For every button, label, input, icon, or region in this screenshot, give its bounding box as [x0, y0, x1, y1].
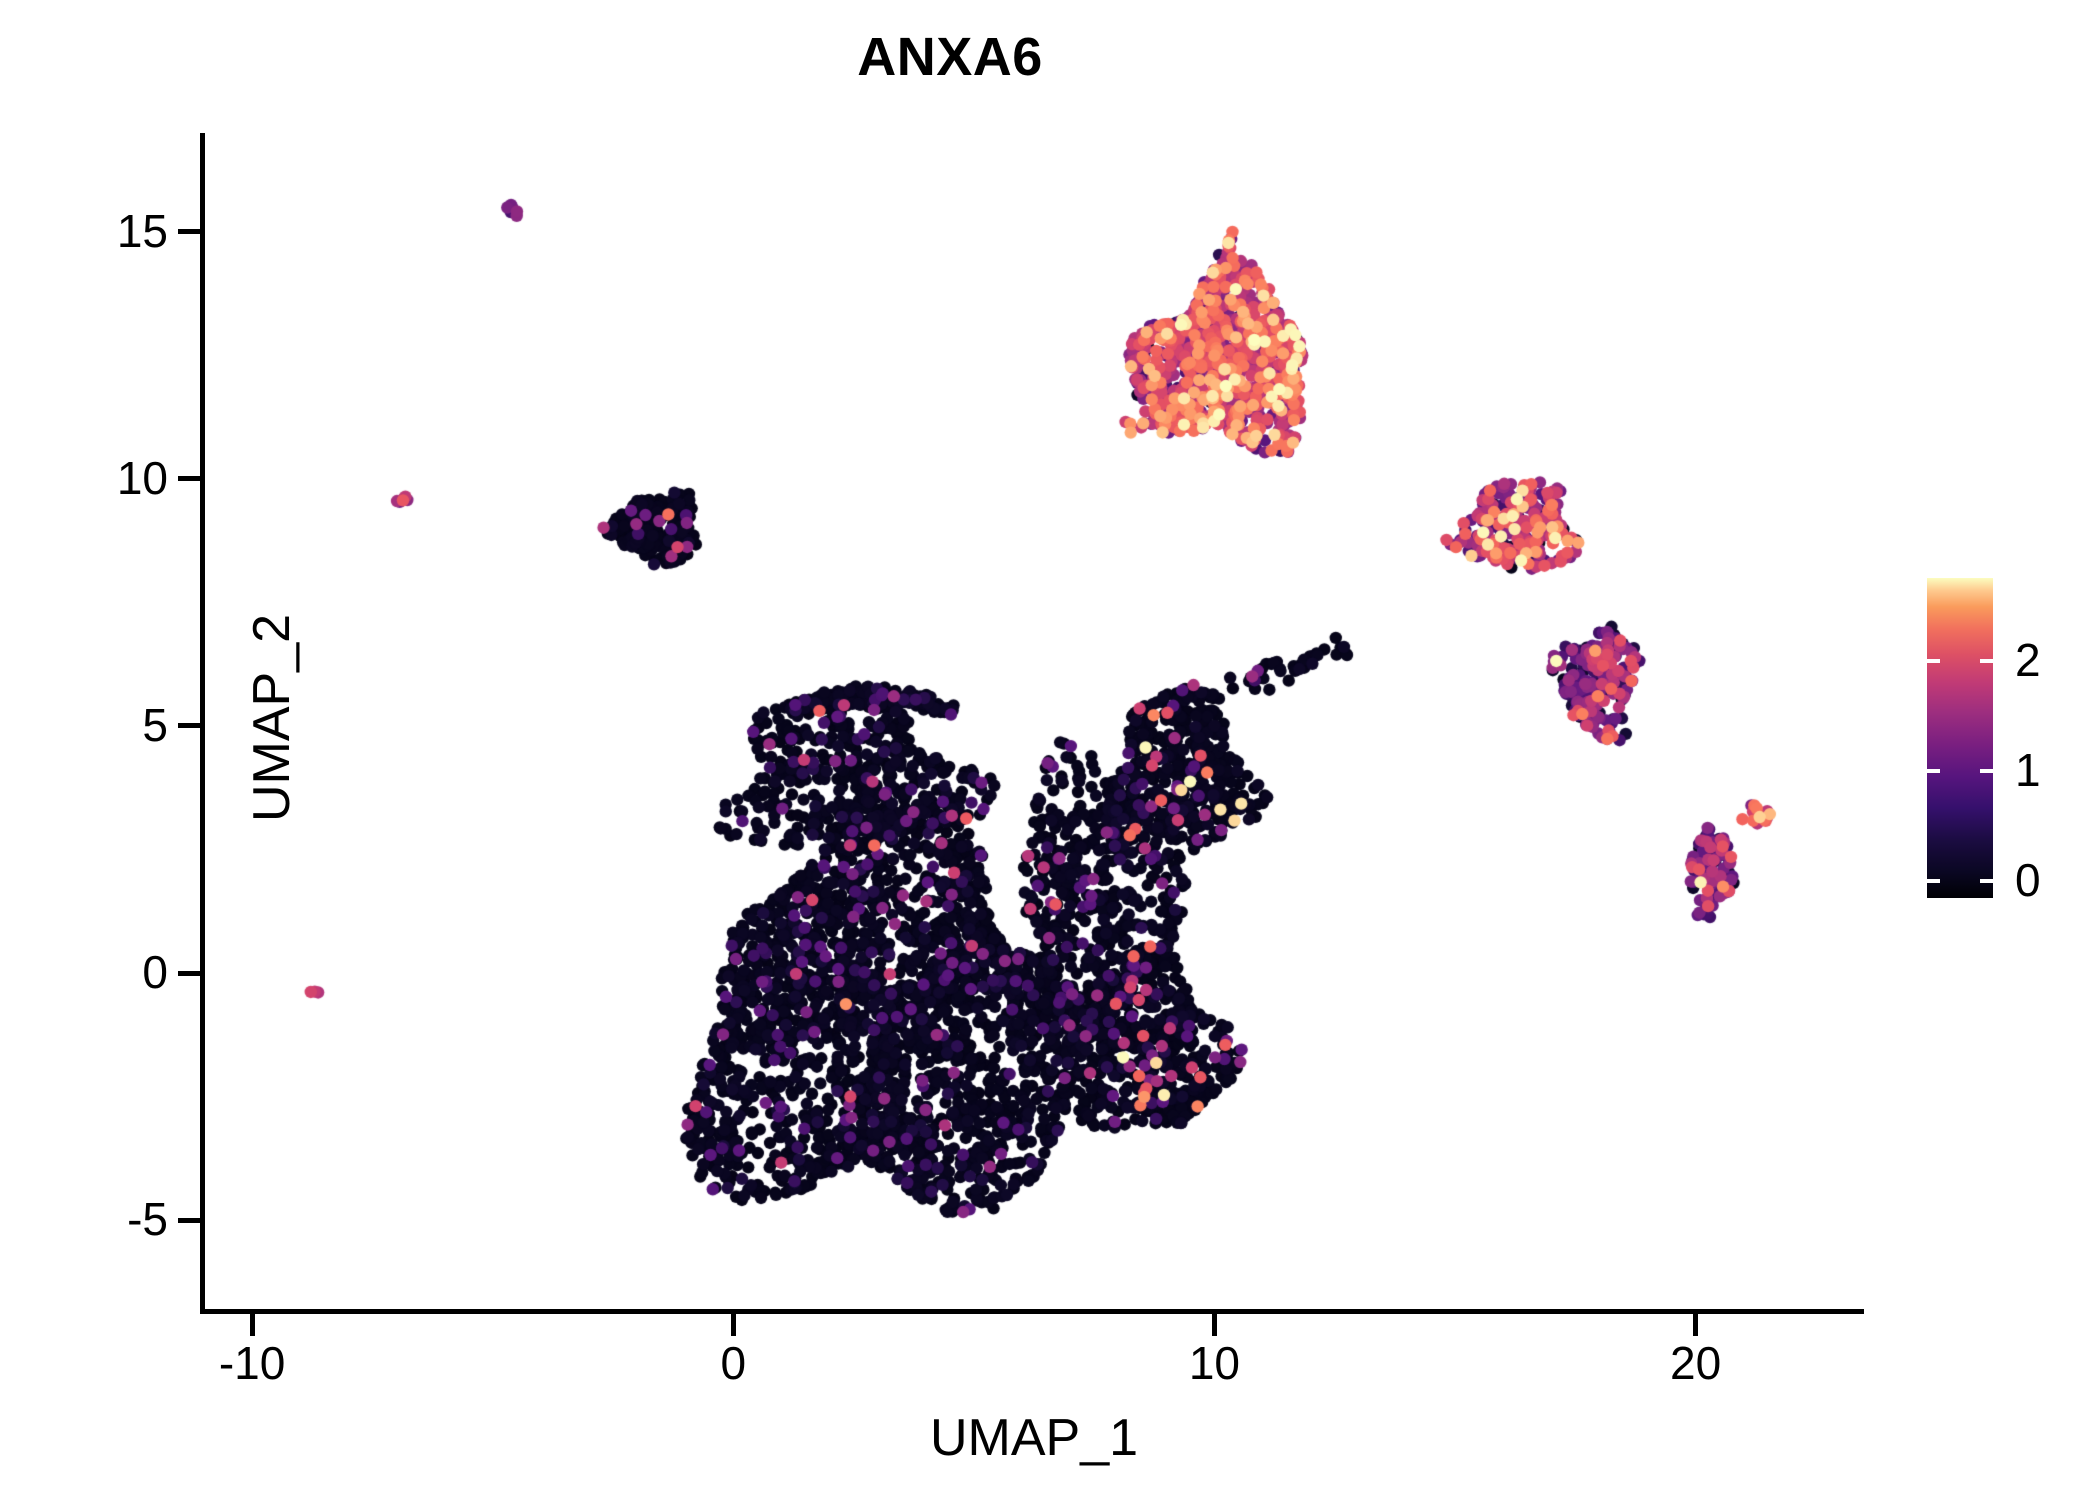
y-tick-label: 15 — [0, 208, 168, 254]
x-tick-label: 0 — [623, 1340, 843, 1386]
x-tick-mark — [731, 1314, 736, 1336]
y-tick-label: -5 — [0, 1196, 168, 1242]
scatter-panel — [204, 133, 1864, 1309]
y-tick-mark — [178, 476, 200, 481]
y-tick-label: 5 — [0, 702, 168, 748]
x-tick-label: 10 — [1104, 1340, 1324, 1386]
page-title: ANXA6 — [0, 26, 1900, 88]
y-tick-mark — [178, 971, 200, 976]
x-tick-mark — [1693, 1314, 1698, 1336]
scatter-canvas — [204, 133, 1864, 1309]
x-tick-label: 20 — [1586, 1340, 1806, 1386]
colorbar-tick-mark — [1980, 879, 1993, 883]
colorbar-legend: 012 — [1927, 578, 2097, 908]
colorbar-tick-mark — [1927, 659, 1940, 663]
y-tick-label: 10 — [0, 455, 168, 501]
colorbar-tick-mark — [1927, 769, 1940, 773]
x-axis-label: UMAP_1 — [204, 1408, 1864, 1468]
y-tick-mark — [178, 229, 200, 234]
x-tick-label: -10 — [142, 1340, 362, 1386]
y-tick-label: 0 — [0, 949, 168, 995]
colorbar-tick-mark — [1980, 769, 1993, 773]
y-axis-line — [200, 133, 205, 1313]
feature-plot-root: ANXA6 -5051015 -1001020 UMAP_1 UMAP_2 01… — [0, 0, 2100, 1500]
x-tick-mark — [1212, 1314, 1217, 1336]
colorbar-tick-label: 2 — [2015, 637, 2041, 683]
colorbar-tick-mark — [1980, 659, 1993, 663]
colorbar-gradient — [1927, 578, 1993, 898]
colorbar-tick-label: 0 — [2015, 857, 2041, 903]
x-tick-mark — [250, 1314, 255, 1336]
y-axis-label: UMAP_2 — [242, 130, 302, 1306]
y-tick-mark — [178, 723, 200, 728]
y-tick-mark — [178, 1218, 200, 1223]
x-axis-line — [200, 1309, 1864, 1314]
colorbar-tick-label: 1 — [2015, 747, 2041, 793]
colorbar-tick-mark — [1927, 879, 1940, 883]
